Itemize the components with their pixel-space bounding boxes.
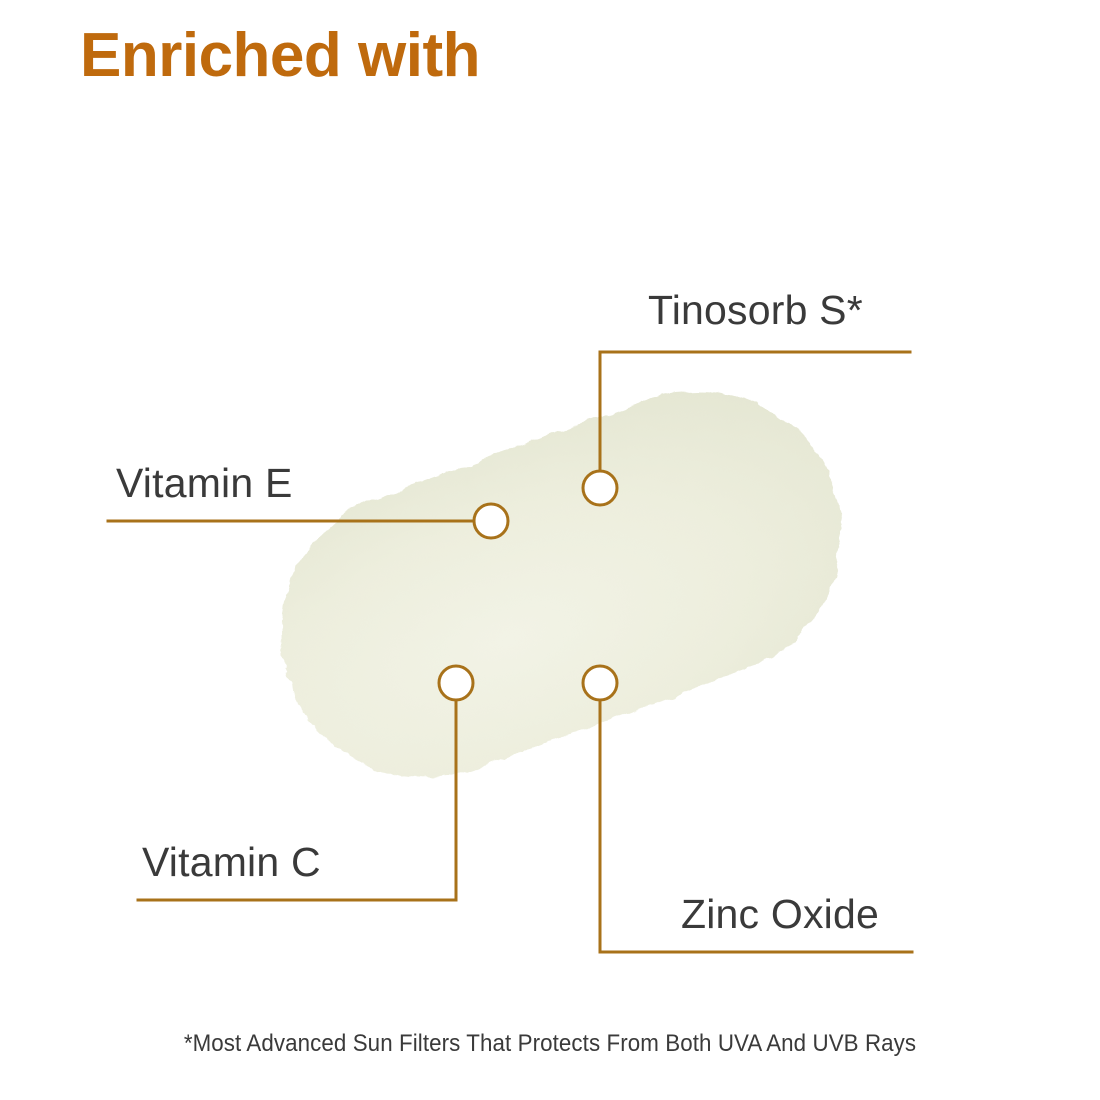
callout-label-vitamin-e: Vitamin E bbox=[116, 463, 293, 504]
footnote-text: *Most Advanced Sun Filters That Protects… bbox=[39, 1030, 1062, 1058]
callout-marker-tinosorb-s[interactable] bbox=[583, 471, 617, 505]
callout-marker-vitamin-e[interactable] bbox=[474, 504, 508, 538]
callout-marker-vitamin-c[interactable] bbox=[439, 666, 473, 700]
leader-line-tinosorb-s bbox=[600, 352, 910, 488]
callout-leader-lines bbox=[0, 0, 1100, 1100]
callout-label-tinosorb-s: Tinosorb S* bbox=[648, 290, 863, 331]
callout-marker-zinc-oxide[interactable] bbox=[583, 666, 617, 700]
callout-label-zinc-oxide: Zinc Oxide bbox=[681, 894, 879, 935]
callout-label-vitamin-c: Vitamin C bbox=[142, 842, 321, 883]
ingredient-callout-diagram: Enriched with bbox=[0, 0, 1100, 1100]
